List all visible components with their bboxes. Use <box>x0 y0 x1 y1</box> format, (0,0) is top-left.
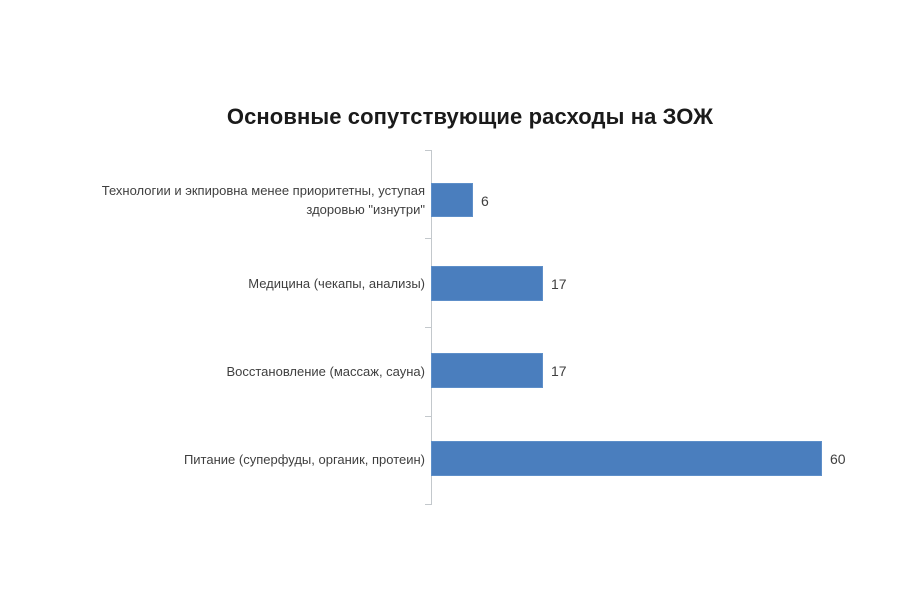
bar-3[interactable] <box>431 441 822 476</box>
bar-value-label-2: 17 <box>551 364 567 378</box>
axis-tick-2 <box>425 327 431 328</box>
category-label-0: Технологии и экпировна менее приоритетны… <box>5 181 425 219</box>
axis-tick-0 <box>425 150 431 151</box>
axis-tick-1 <box>425 238 431 239</box>
bar-2[interactable] <box>431 353 543 388</box>
bar-1[interactable] <box>431 266 543 301</box>
bar-value-label-3: 60 <box>830 452 846 466</box>
chart-title: Основные сопутствующие расходы на ЗОЖ <box>0 104 900 130</box>
category-label-3: Питание (суперфуды, органик, протеин) <box>5 450 425 469</box>
bar-value-label-0: 6 <box>481 194 489 208</box>
bar-0[interactable] <box>431 183 473 217</box>
category-label-2: Восстановление (массаж, сауна) <box>5 362 425 381</box>
category-label-1: Медицина (чекапы, анализы) <box>5 274 425 293</box>
chart-canvas: Основные сопутствующие расходы на ЗОЖ 6 … <box>0 0 900 600</box>
bar-value-label-1: 17 <box>551 277 567 291</box>
axis-tick-3 <box>425 416 431 417</box>
axis-tick-4 <box>425 504 431 505</box>
